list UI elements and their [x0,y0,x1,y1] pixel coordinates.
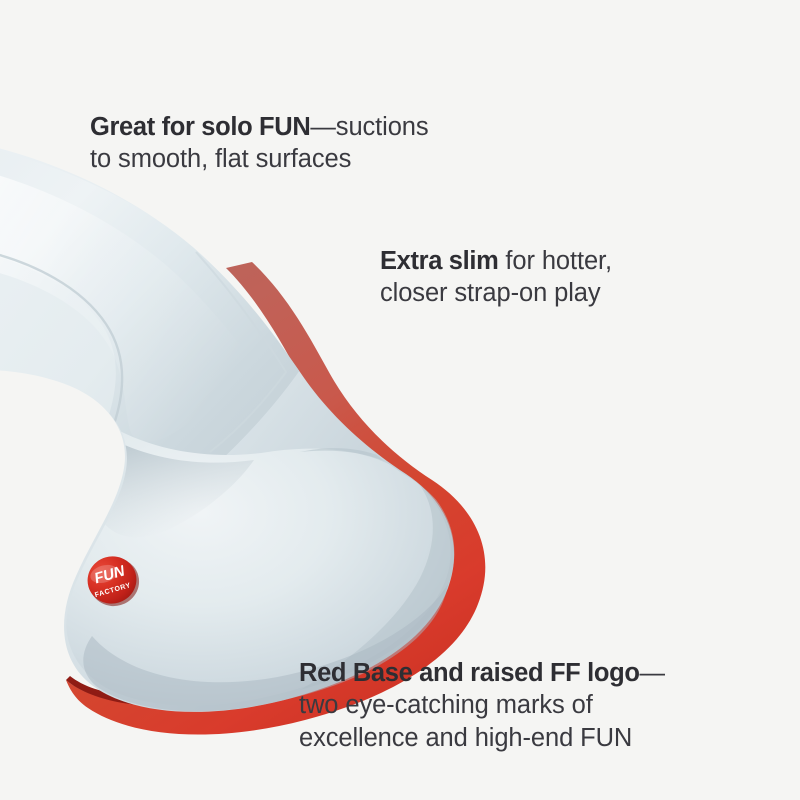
callout-red-base-lead: Red Base and raised FF logo [299,659,640,687]
callout-red-base: Red Base and raised FF logo— two eye-cat… [299,624,729,755]
callout-extra-slim-lead: Extra slim [380,247,498,275]
callout-solo-fun-lead: Great for solo FUN [90,113,310,141]
callout-extra-slim: Extra slim for hotter, closer strap-on p… [380,212,680,310]
callout-solo-fun: Great for solo FUN—suctions to smooth, f… [90,78,560,176]
infographic-canvas: FUN FACTORY Great for solo FUN—suctions … [0,0,800,800]
